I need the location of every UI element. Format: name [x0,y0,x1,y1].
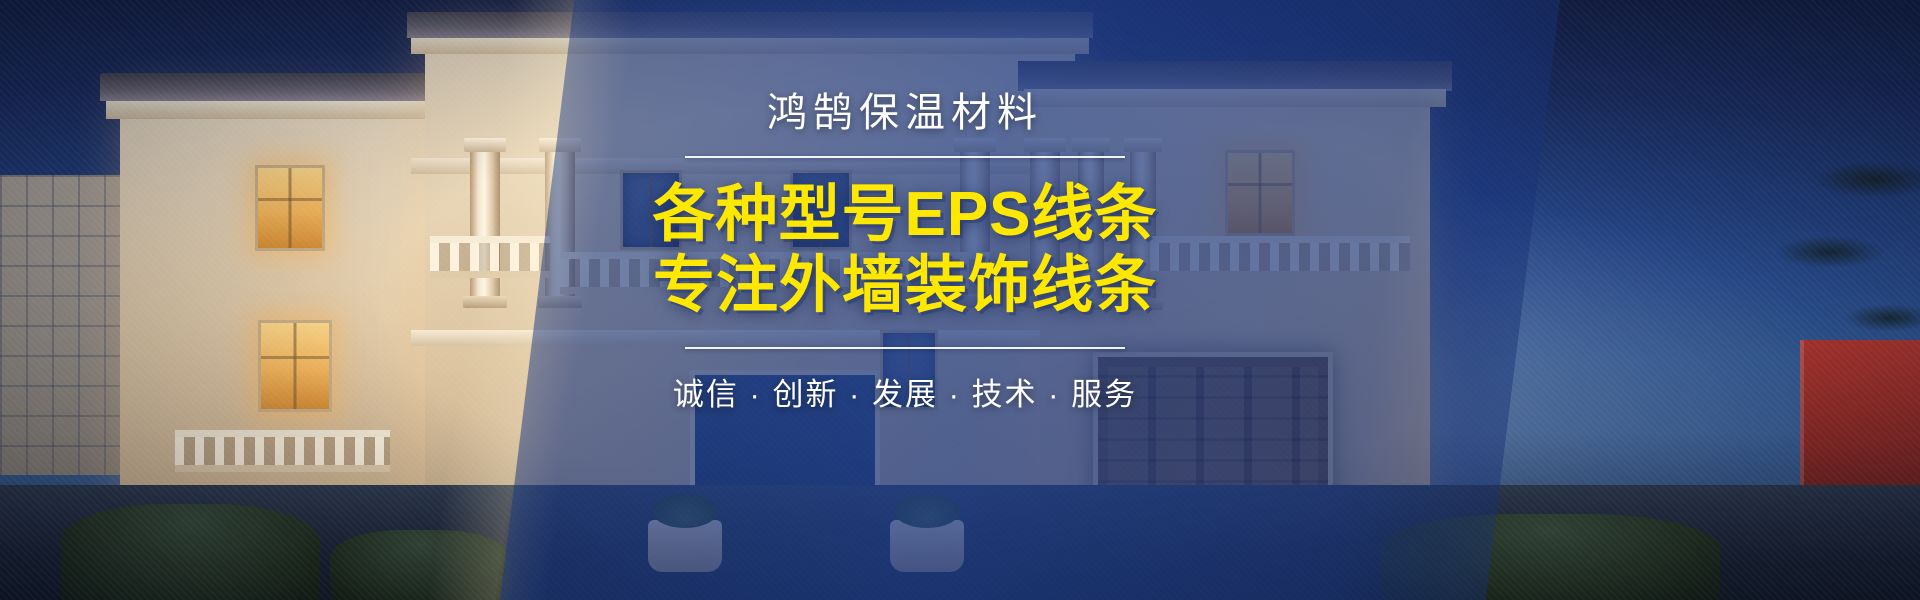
lit-window [255,165,325,251]
headline: 各种型号EPS线条 专注外墙装饰线条 [555,180,1255,321]
divider-top [685,156,1125,158]
balustrade [430,236,550,278]
divider-bottom [685,347,1125,349]
lit-window [258,320,332,412]
cornice-left [106,101,464,119]
hedge [330,530,510,600]
roof-left [100,73,470,101]
background-building-left [0,175,130,475]
hero-banner: 鸿鹄保温材料 各种型号EPS线条 专注外墙装饰线条 诚信 · 创新 · 发展 ·… [0,0,1920,600]
banner-copy: 鸿鹄保温材料 各种型号EPS线条 专注外墙装饰线条 诚信 · 创新 · 发展 ·… [555,92,1255,414]
headline-line-1: 各种型号EPS线条 [555,180,1255,251]
slogan: 诚信 · 创新 · 发展 · 技术 · 服务 [555,369,1255,414]
headline-line-2: 专注外墙装饰线条 [555,251,1255,322]
brand-name: 鸿鹄保温材料 [555,92,1255,134]
hedge [60,504,320,600]
scaffold-mesh [0,175,130,475]
balustrade [175,430,390,472]
